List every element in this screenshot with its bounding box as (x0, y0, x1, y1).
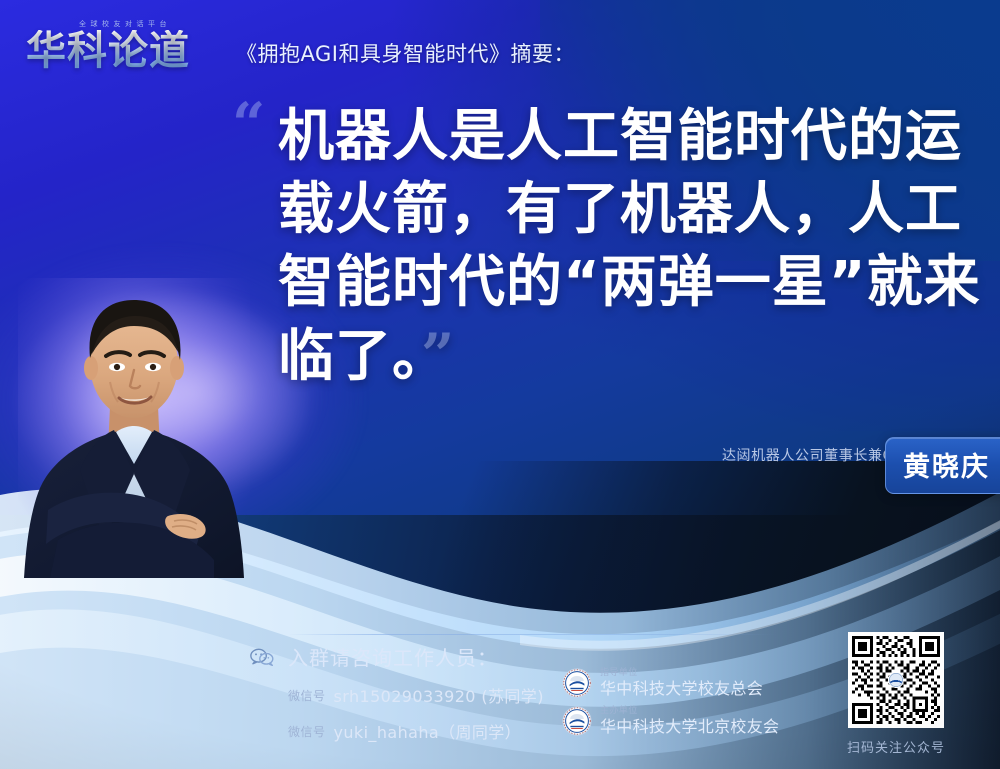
speaker-portrait (18, 278, 250, 578)
quote-block: 机器人是人工智能时代的运 载火箭，有了机器人，人工 智能时代的“两弹一星”就来 … (278, 100, 950, 393)
poster-canvas: 全球校友对话平台 华科论道 《拥抱AGI和具身智能时代》摘要： “ 机器人是人工… (0, 0, 1000, 769)
organization-name: 华中科技大学校友总会 (600, 679, 763, 698)
organization-kind: 主办单位 (600, 706, 779, 717)
poster-header: 全球校友对话平台 华科论道 《拥抱AGI和具身智能时代》摘要： (0, 0, 1000, 92)
qr-code-icon[interactable] (848, 632, 944, 728)
contact-value: yuki_hahaha（周同学） (334, 719, 522, 743)
qr-block: 扫码关注公众号 (842, 632, 950, 756)
contact-label: 微信号 (288, 723, 326, 740)
quote-line-text: 临了。 (278, 324, 421, 389)
organizations-block: 指导单位 华中科技大学校友总会 主办单位 华中科技大学北京校友会 (562, 666, 779, 742)
quote-open-mark: “ (232, 104, 263, 144)
hust-emblem-icon (562, 668, 592, 698)
quote-close-mark: ” (421, 321, 452, 389)
brand-logo: 全球校友对话平台 华科论道 (26, 20, 218, 72)
wechat-icon (250, 648, 274, 666)
quote-line: 机器人是人工智能时代的运 (278, 100, 950, 173)
speaker-name-badge: 黄晓庆 (885, 437, 1000, 494)
quote-line-last: 临了。” (278, 319, 950, 393)
organization-texts: 指导单位 华中科技大学校友总会 (600, 668, 763, 698)
brand-logo-text: 华科论道 (26, 30, 218, 72)
footer-heading: 入群请咨询工作人员： (288, 642, 498, 671)
organization-name: 华中科技大学北京校友会 (600, 717, 779, 736)
organization-texts: 主办单位 华中科技大学北京校友会 (600, 706, 779, 736)
page-title: 《拥抱AGI和具身智能时代》摘要： (236, 38, 575, 68)
quote-line: 载火箭，有了机器人，人工 (278, 173, 950, 246)
hust-emblem-icon (562, 706, 592, 736)
quote-line: 智能时代的“两弹一星”就来 (278, 246, 950, 319)
organization-row: 主办单位 华中科技大学北京校友会 (562, 704, 779, 738)
brand-tagline: 全球校友对话平台 (32, 20, 218, 29)
contact-label: 微信号 (288, 687, 326, 704)
contact-value: srh15029033920 (苏同学) (334, 683, 544, 707)
organization-row: 指导单位 华中科技大学校友总会 (562, 666, 779, 700)
footer-separator (288, 634, 776, 635)
organization-kind: 指导单位 (600, 668, 763, 679)
qr-caption: 扫码关注公众号 (842, 737, 950, 756)
